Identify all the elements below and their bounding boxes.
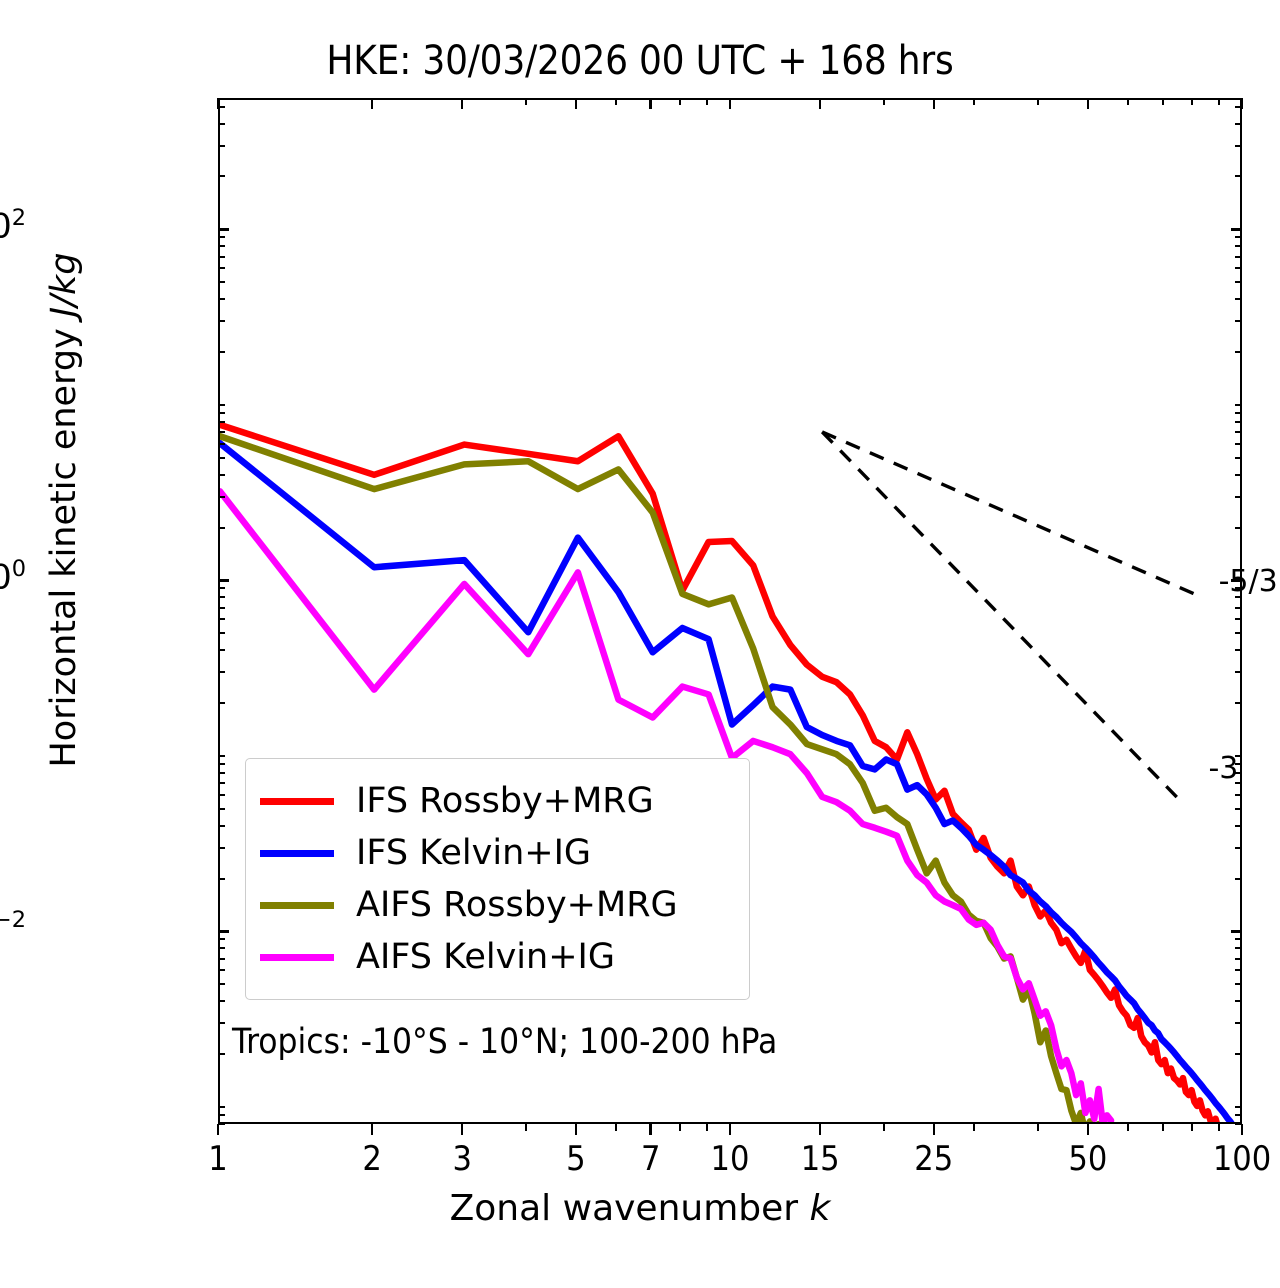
y-tick-minor <box>218 671 225 673</box>
x-tick-top <box>819 98 821 109</box>
y-tick-right <box>1235 145 1242 147</box>
x-tick-minor <box>1191 1124 1193 1131</box>
legend-item[interactable]: IFS Rossby+MRG <box>260 775 731 827</box>
y-tick-right <box>1235 431 1242 433</box>
y-tick-minor <box>218 496 225 498</box>
x-tick-major <box>461 1124 463 1135</box>
legend-color-swatch <box>260 954 334 961</box>
y-tick-minor <box>218 320 225 322</box>
reference-slope-line <box>822 432 1194 594</box>
x-tick-top <box>1127 98 1129 105</box>
x-tick-minor <box>1218 1124 1220 1131</box>
legend-color-swatch <box>260 902 334 909</box>
x-tick-top <box>933 98 935 109</box>
y-tick-minor <box>218 618 225 620</box>
y-tick-right <box>1235 123 1242 125</box>
x-axis-label-text: Zonal wavenumber <box>450 1188 810 1229</box>
y-tick-right <box>1231 930 1242 932</box>
x-tick-minor <box>883 1124 885 1131</box>
x-tick-minor <box>1127 1124 1129 1131</box>
x-tick-major <box>729 1124 731 1135</box>
legend: IFS Rossby+MRGIFS Kelvin+IGAIFS Rossby+M… <box>245 758 750 1000</box>
y-tick-right <box>1235 267 1242 269</box>
y-tick-minor <box>218 969 225 971</box>
y-tick-minor <box>218 267 225 269</box>
y-tick-right <box>1235 825 1242 827</box>
y-tick-right <box>1235 1022 1242 1024</box>
y-tick-minor <box>218 632 225 634</box>
y-tick-minor <box>218 123 225 125</box>
y-tick-right <box>1235 1114 1242 1116</box>
y-tick-minor <box>218 596 225 598</box>
legend-item[interactable]: AIFS Rossby+MRG <box>260 879 731 931</box>
x-tick-top <box>1162 98 1164 105</box>
y-tick-minor <box>218 256 225 258</box>
y-tick-minor <box>218 938 225 940</box>
x-tick-major <box>371 1124 373 1135</box>
x-tick-major <box>819 1124 821 1135</box>
x-tick-top <box>1087 98 1089 109</box>
y-tick-right <box>1235 527 1242 529</box>
y-tick-minor <box>218 958 225 960</box>
slope-label: -5/3 <box>1219 564 1278 599</box>
y-tick-minor <box>218 587 225 589</box>
y-tick-right <box>1235 421 1242 423</box>
y-tick-right <box>1235 1000 1242 1002</box>
y-tick-label: 10−2 <box>0 907 26 948</box>
y-axis-label: Horizontal kinetic energy J/kg <box>44 160 84 860</box>
y-tick-right <box>1235 496 1242 498</box>
x-tick-top <box>1191 98 1193 105</box>
y-tick-right <box>1235 632 1242 634</box>
legend-label: AIFS Kelvin+IG <box>356 940 615 975</box>
x-tick-top <box>1218 98 1220 105</box>
x-tick-top <box>679 98 681 105</box>
y-tick-minor <box>218 649 225 651</box>
y-tick-minor <box>218 825 225 827</box>
y-tick-exponent: −2 <box>0 907 26 933</box>
y-tick-exponent: 0 <box>12 556 26 582</box>
x-tick-top <box>1241 98 1243 109</box>
y-tick-major <box>218 228 229 230</box>
x-tick-major <box>649 1124 651 1135</box>
region-annotation: Tropics: -10°S - 10°N; 100-200 hPa <box>232 1022 777 1062</box>
y-tick-right <box>1235 702 1242 704</box>
y-tick-minor <box>218 175 225 177</box>
y-tick-right <box>1235 412 1242 414</box>
y-tick-right <box>1235 1053 1242 1055</box>
y-tick-minor <box>218 245 225 247</box>
figure-root: HKE: 30/03/2026 00 UTC + 168 hrs Horizon… <box>0 0 1280 1288</box>
y-tick-right <box>1235 969 1242 971</box>
x-tick-label: 100 <box>1162 1139 1280 1179</box>
y-tick-minor <box>218 808 225 810</box>
x-tick-top <box>973 98 975 105</box>
y-tick-minor <box>218 443 225 445</box>
x-tick-major <box>1087 1124 1089 1135</box>
page-title: HKE: 30/03/2026 00 UTC + 168 hrs <box>0 38 1280 84</box>
reference-slope-line <box>822 432 1183 804</box>
y-tick-right <box>1235 1106 1242 1108</box>
x-tick-major <box>217 1124 219 1135</box>
y-tick-minor <box>218 431 225 433</box>
x-tick-minor <box>973 1124 975 1131</box>
y-tick-minor <box>218 236 225 238</box>
x-tick-top <box>371 98 373 109</box>
y-tick-minor <box>218 772 225 774</box>
y-tick-right <box>1235 607 1242 609</box>
y-tick-minor <box>218 474 225 476</box>
x-tick-top <box>575 98 577 109</box>
y-tick-minor <box>218 1114 225 1116</box>
x-tick-minor <box>1162 1124 1164 1131</box>
y-tick-right <box>1231 228 1242 230</box>
y-tick-right <box>1235 794 1242 796</box>
y-tick-minor <box>218 607 225 609</box>
y-tick-right <box>1235 649 1242 651</box>
y-tick-label: 102 <box>0 205 26 246</box>
y-tick-right <box>1235 404 1242 406</box>
y-tick-right <box>1235 457 1242 459</box>
y-tick-right <box>1235 281 1242 283</box>
y-tick-right <box>1235 443 1242 445</box>
y-tick-right <box>1235 878 1242 880</box>
y-tick-right <box>1235 947 1242 949</box>
x-tick-top <box>729 98 731 109</box>
y-tick-right <box>1235 320 1242 322</box>
y-tick-minor <box>218 1053 225 1055</box>
y-tick-right <box>1235 958 1242 960</box>
y-tick-mantissa: 10 <box>0 558 12 598</box>
y-axis-label-text: Horizontal kinetic energy <box>44 317 84 767</box>
legend-item[interactable]: IFS Kelvin+IG <box>260 827 731 879</box>
y-tick-minor <box>218 404 225 406</box>
x-tick-top <box>649 98 651 109</box>
y-tick-minor <box>218 1000 225 1002</box>
y-tick-minor <box>218 421 225 423</box>
legend-color-swatch <box>260 850 334 857</box>
y-tick-right <box>1235 236 1242 238</box>
x-tick-minor <box>1037 1124 1039 1131</box>
y-tick-exponent: 2 <box>12 205 26 231</box>
y-tick-minor <box>218 878 225 880</box>
y-tick-right <box>1235 245 1242 247</box>
y-tick-right <box>1235 938 1242 940</box>
legend-label: AIFS Rossby+MRG <box>356 888 678 923</box>
y-tick-minor <box>218 145 225 147</box>
x-tick-major <box>575 1124 577 1135</box>
y-tick-minor <box>218 1106 225 1108</box>
y-tick-right <box>1235 175 1242 177</box>
x-tick-top <box>461 98 463 109</box>
y-tick-mantissa: 10 <box>0 207 12 247</box>
y-axis-label-units: J/kg <box>44 252 84 317</box>
y-tick-minor <box>218 983 225 985</box>
y-tick-right <box>1235 808 1242 810</box>
x-tick-major <box>933 1124 935 1135</box>
y-tick-right <box>1235 847 1242 849</box>
y-tick-minor <box>218 281 225 283</box>
x-tick-label: 25 <box>854 1139 1014 1179</box>
y-tick-right <box>1235 298 1242 300</box>
x-tick-top <box>525 98 527 105</box>
y-tick-right <box>1235 618 1242 620</box>
legend-label: IFS Rossby+MRG <box>356 784 654 819</box>
y-tick-minor <box>218 782 225 784</box>
legend-item[interactable]: AIFS Kelvin+IG <box>260 931 731 983</box>
x-tick-minor <box>706 1124 708 1131</box>
x-axis-label: Zonal wavenumber k <box>0 1188 1280 1229</box>
y-tick-minor <box>218 1022 225 1024</box>
y-tick-minor <box>218 457 225 459</box>
x-tick-major <box>1241 1124 1243 1135</box>
x-tick-minor <box>615 1124 617 1131</box>
y-tick-right <box>1235 474 1242 476</box>
x-tick-top <box>883 98 885 105</box>
y-tick-right <box>1235 256 1242 258</box>
y-tick-minor <box>218 412 225 414</box>
y-tick-label: 100 <box>0 556 26 597</box>
x-tick-label: 50 <box>1008 1139 1168 1179</box>
y-tick-major <box>218 579 229 581</box>
y-tick-major <box>218 930 229 932</box>
x-tick-minor <box>679 1124 681 1131</box>
x-tick-minor <box>525 1124 527 1131</box>
y-tick-minor <box>218 702 225 704</box>
x-tick-label: 1 <box>138 1139 298 1179</box>
slope-label: -3 <box>1208 751 1238 786</box>
y-tick-right <box>1235 351 1242 353</box>
y-tick-right <box>1235 671 1242 673</box>
y-tick-minor <box>218 298 225 300</box>
x-axis-label-symbol: k <box>810 1188 831 1229</box>
x-tick-top <box>706 98 708 105</box>
legend-color-swatch <box>260 798 334 805</box>
x-tick-top <box>217 98 219 109</box>
y-tick-minor <box>218 794 225 796</box>
x-tick-top <box>1037 98 1039 105</box>
y-tick-minor <box>218 351 225 353</box>
y-tick-minor <box>218 763 225 765</box>
y-tick-minor <box>218 847 225 849</box>
y-tick-right <box>1235 983 1242 985</box>
y-tick-minor <box>218 947 225 949</box>
x-tick-top <box>615 98 617 105</box>
legend-label: IFS Kelvin+IG <box>356 836 591 871</box>
y-tick-minor <box>218 755 225 757</box>
y-tick-minor <box>218 527 225 529</box>
